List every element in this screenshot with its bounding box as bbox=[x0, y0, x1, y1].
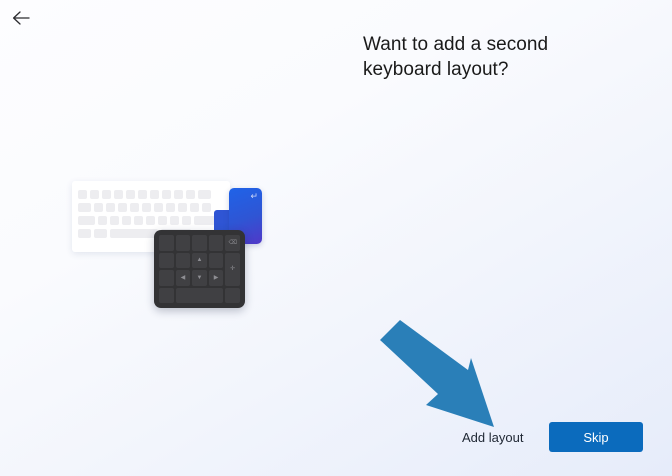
numpad-key-left: ◀ bbox=[176, 270, 191, 286]
keyboard-key bbox=[162, 190, 171, 199]
keyboard-key bbox=[186, 190, 195, 199]
keyboard-layout-illustration: ↵ ⌫ ▲ ✛ ◀ ▼ ▶ bbox=[70, 178, 270, 313]
keyboard-key bbox=[142, 203, 151, 212]
keyboard-key bbox=[174, 190, 183, 199]
keyboard-key bbox=[114, 190, 123, 199]
keyboard-key bbox=[78, 203, 91, 212]
numpad-key-right: ▶ bbox=[209, 270, 224, 286]
keyboard-key bbox=[78, 216, 95, 225]
keyboard-key bbox=[166, 203, 175, 212]
enter-arrow-icon: ↵ bbox=[250, 192, 258, 201]
numpad-grid: ⌫ ▲ ✛ ◀ ▼ ▶ bbox=[159, 235, 240, 303]
keyboard-key bbox=[122, 216, 131, 225]
keyboard-key bbox=[170, 216, 179, 225]
numpad-key bbox=[159, 235, 174, 251]
keyboard-key bbox=[78, 190, 87, 199]
keyboard-key bbox=[154, 203, 163, 212]
numpad-key-up: ▲ bbox=[192, 253, 207, 269]
numpad-key-backspace: ⌫ bbox=[225, 235, 240, 251]
numpad-key bbox=[192, 235, 207, 251]
numpad-key bbox=[159, 253, 174, 269]
keyboard-key bbox=[194, 216, 215, 225]
numpad-key bbox=[159, 288, 174, 304]
arrow-left-icon bbox=[11, 10, 31, 31]
numpad-key bbox=[209, 235, 224, 251]
keyboard-row bbox=[78, 190, 211, 199]
keyboard-key bbox=[178, 203, 187, 212]
numpad-key bbox=[209, 253, 224, 269]
pointer-arrow bbox=[370, 310, 510, 435]
page-title: Want to add a second keyboard layout? bbox=[363, 32, 631, 82]
keyboard-key-space bbox=[110, 229, 158, 238]
keyboard-key bbox=[110, 216, 119, 225]
numpad-key-zero bbox=[176, 288, 224, 304]
keyboard-key bbox=[78, 229, 91, 238]
numpad-key bbox=[176, 235, 191, 251]
keyboard-key bbox=[150, 190, 159, 199]
back-button[interactable] bbox=[4, 4, 38, 36]
numpad-key bbox=[176, 253, 191, 269]
keyboard-key bbox=[190, 203, 199, 212]
numpad-key bbox=[159, 270, 174, 286]
keyboard-key bbox=[118, 203, 127, 212]
keyboard-key bbox=[138, 190, 147, 199]
keyboard-row bbox=[78, 216, 215, 225]
skip-button[interactable]: Skip bbox=[549, 422, 643, 452]
oobe-keyboard-layout-screen: Want to add a second keyboard layout? bbox=[0, 0, 672, 476]
add-layout-link[interactable]: Add layout bbox=[462, 430, 523, 445]
keyboard-key bbox=[158, 216, 167, 225]
keyboard-key bbox=[130, 203, 139, 212]
keyboard-key bbox=[90, 190, 99, 199]
keyboard-key bbox=[94, 229, 107, 238]
keyboard-key bbox=[202, 203, 211, 212]
numpad-key-down: ▼ bbox=[192, 270, 207, 286]
keyboard-key bbox=[94, 203, 103, 212]
numpad-key-plus: ✛ bbox=[225, 253, 240, 286]
keyboard-key bbox=[98, 216, 107, 225]
keyboard-key bbox=[146, 216, 155, 225]
keyboard-key bbox=[134, 216, 143, 225]
keyboard-key bbox=[198, 190, 211, 199]
keyboard-key bbox=[106, 203, 115, 212]
keyboard-key bbox=[182, 216, 191, 225]
keyboard-key bbox=[126, 190, 135, 199]
numpad-key bbox=[225, 288, 240, 304]
keyboard-row bbox=[78, 203, 211, 212]
numeric-keypad: ⌫ ▲ ✛ ◀ ▼ ▶ bbox=[154, 230, 245, 308]
keyboard-key bbox=[102, 190, 111, 199]
